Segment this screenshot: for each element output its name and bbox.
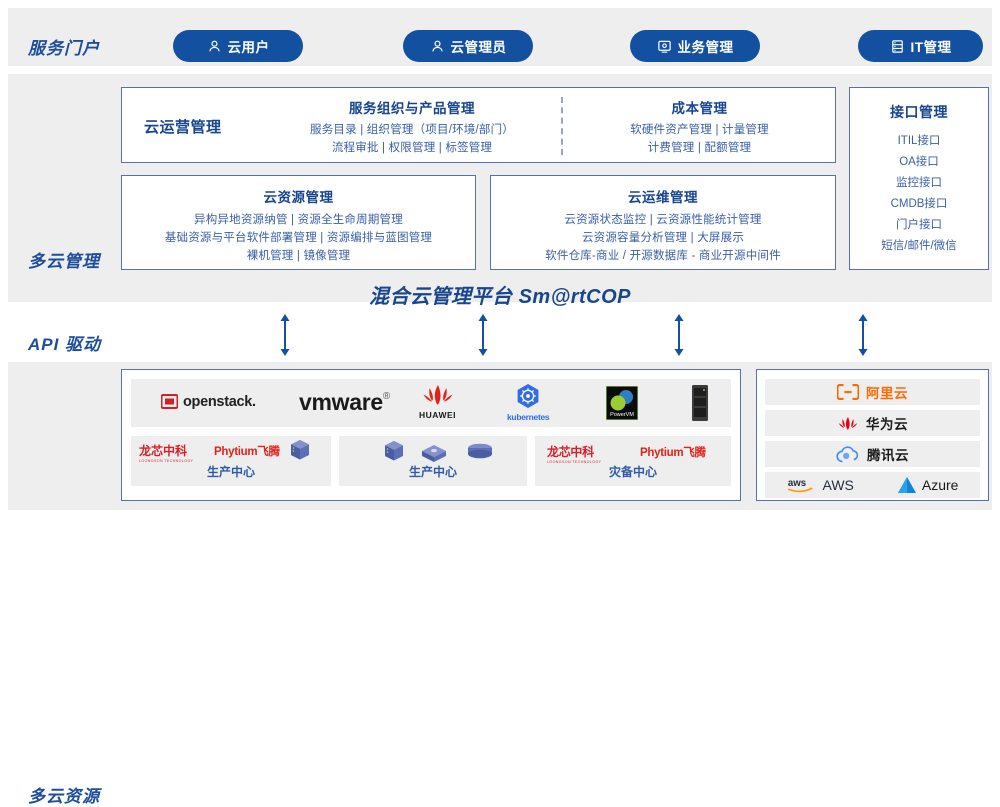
cloud-maintenance-line-3: 软件仓库-商业 / 开源数据库 - 商业开源中间件	[491, 247, 835, 265]
public-cloud-panel: 阿里云 华为云 腾	[756, 369, 989, 501]
azure-logo: Azure	[897, 476, 959, 494]
cloud-maintenance-line-2: 云资源容量分析管理 | 大屏展示	[491, 229, 835, 247]
azure-label: Azure	[922, 477, 959, 493]
powervm-icon: PowerVM	[606, 386, 638, 420]
datacenter-name-2: 生产中心	[339, 463, 527, 480]
interface-item-messaging: 短信/邮件/微信	[850, 236, 988, 257]
datacenter-name-3: 灾备中心	[535, 463, 731, 480]
interface-item-itil: ITIL接口	[850, 131, 988, 152]
portal-button-cloud-user[interactable]: 云用户	[173, 30, 303, 62]
interface-item-monitor: 监控接口	[850, 173, 988, 194]
api-arrow-4	[857, 314, 869, 356]
server-icon	[289, 439, 311, 461]
phytium-logo-2: Phytium飞腾	[640, 444, 706, 460]
cost-management-group: 成本管理 软硬件资产管理 | 计量管理 计费管理 | 配额管理	[572, 97, 827, 157]
service-product-line-1: 服务目录 | 组织管理（项目/环境/部门）	[267, 121, 557, 139]
aliyun-label: 阿里云	[866, 382, 908, 402]
platform-title: 混合云管理平台 Sm@rtCOP	[8, 280, 992, 309]
vmware-logo: vmware ®	[299, 389, 390, 416]
interface-item-portal: 门户接口	[850, 215, 988, 236]
user-icon	[207, 39, 222, 54]
aws-label: AWS	[823, 477, 854, 493]
portal-button-label: 云管理员	[451, 36, 507, 56]
aws-logo: aws AWS	[787, 476, 854, 494]
api-drive-band: API 驱动	[8, 310, 992, 360]
openstack-logo: openstack.	[161, 393, 256, 410]
cloud-maintenance-line-1: 云资源状态监控 | 云资源性能统计管理	[491, 211, 835, 229]
cloud-resource-line-1: 异构异地资源纳管 | 资源全生命周期管理	[122, 211, 475, 229]
loongson-logo-2: 龙芯中科 LOONGSON TECHNOLOGY	[547, 443, 601, 464]
huawei-flower-icon	[421, 383, 455, 407]
cloud-operation-side-title: 云运营管理	[144, 116, 222, 137]
public-cloud-row-huawei: 华为云	[765, 410, 980, 436]
server-rack-icon	[691, 385, 709, 421]
aws-icon: aws	[787, 476, 817, 494]
storage-icon	[467, 443, 493, 461]
interface-management-title: 接口管理	[850, 102, 988, 122]
private-cloud-panel: openstack. vmware ®	[121, 369, 741, 501]
service-product-group: 服务组织与产品管理 服务目录 | 组织管理（项目/环境/部门） 流程审批 | 权…	[267, 97, 557, 157]
server-list-icon	[890, 39, 905, 54]
switch-icon	[421, 444, 447, 464]
cloud-resource-line-3: 裸机管理 | 镜像管理	[122, 247, 475, 265]
cloud-resource-title: 云资源管理	[122, 186, 475, 206]
loongson-logo-text: 龙芯中科	[139, 442, 193, 459]
cost-management-title: 成本管理	[572, 97, 827, 117]
loongson-logo-text: 龙芯中科	[547, 443, 601, 460]
service-portal-label: 服务门户	[28, 34, 100, 59]
powervm-logo: PowerVM	[606, 386, 638, 420]
multicloud-resource-label: 多云资源	[28, 782, 100, 807]
cost-management-line-1: 软硬件资产管理 | 计量管理	[572, 121, 827, 139]
portal-button-it-mgmt[interactable]: IT管理	[858, 30, 983, 62]
public-cloud-row-aliyun: 阿里云	[765, 379, 980, 405]
public-cloud-row-tencent: 腾讯云	[765, 441, 980, 467]
datacenter-card-2: 生产中心	[339, 436, 527, 486]
tencent-cloud-label: 腾讯云	[867, 444, 909, 464]
server-icon	[383, 440, 405, 462]
api-arrow-2	[477, 314, 489, 356]
portal-button-label: 云用户	[228, 36, 270, 56]
svg-text:aws: aws	[787, 478, 805, 489]
service-portal-band: 服务门户 云用户 云管理员 业务管理 IT管理	[8, 8, 992, 66]
cloud-resource-line-2: 基础资源与平台软件部署管理 | 资源编排与蓝图管理	[122, 229, 475, 247]
loongson-logo-1: 龙芯中科 LOONGSON TECHNOLOGY	[139, 442, 193, 463]
multicloud-management-label: 多云管理	[28, 247, 100, 272]
huawei-cloud-label: 华为云	[866, 413, 908, 433]
api-drive-label: API 驱动	[28, 330, 101, 355]
interface-item-oa: OA接口	[850, 152, 988, 173]
cloud-resource-box: 云资源管理 异构异地资源纳管 | 资源全生命周期管理 基础资源与平台软件部署管理…	[121, 175, 476, 270]
multicloud-resource-band: 多云资源 openstack. vmware ®	[8, 362, 992, 510]
cloud-maintenance-title: 云运维管理	[491, 186, 835, 206]
vmware-trademark-icon: ®	[383, 391, 390, 402]
huawei-cloud-icon	[837, 415, 859, 432]
kubernetes-logo: kubernetes	[507, 383, 549, 422]
server-rack-logo	[691, 385, 709, 421]
datacenter-card-3: 龙芯中科 LOONGSON TECHNOLOGY Phytium飞腾 灾备中心	[535, 436, 731, 486]
portal-button-cloud-admin[interactable]: 云管理员	[403, 30, 533, 62]
datacenter-name-1: 生产中心	[131, 463, 331, 480]
azure-icon	[897, 476, 917, 494]
portal-button-business-mgmt[interactable]: 业务管理	[630, 30, 760, 62]
cloud-operation-box: 云运营管理 服务组织与产品管理 服务目录 | 组织管理（项目/环境/部门） 流程…	[121, 87, 836, 163]
cost-management-line-2: 计费管理 | 配额管理	[572, 139, 827, 157]
vmware-logo-text: vmware	[299, 389, 383, 416]
interface-management-box: 接口管理 ITIL接口 OA接口 监控接口 CMDB接口 门户接口 短信/邮件/…	[849, 87, 989, 270]
huawei-logo: HUAWEI	[419, 383, 456, 420]
ops-box-divider	[561, 97, 563, 155]
service-product-title: 服务组织与产品管理	[267, 97, 557, 117]
service-product-line-2: 流程审批 | 权限管理 | 标签管理	[267, 139, 557, 157]
cloud-maintenance-box: 云运维管理 云资源状态监控 | 云资源性能统计管理 云资源容量分析管理 | 大屏…	[490, 175, 836, 270]
api-arrow-3	[673, 314, 685, 356]
tencent-cloud-icon	[836, 446, 860, 463]
monitor-icon	[657, 39, 672, 54]
portal-button-label: 业务管理	[678, 36, 734, 56]
admin-user-icon	[430, 39, 445, 54]
portal-button-label: IT管理	[911, 36, 952, 56]
openstack-logo-text: openstack.	[183, 394, 256, 410]
kubernetes-helm-icon	[515, 383, 541, 409]
virtualization-vendor-strip: openstack. vmware ®	[131, 379, 731, 427]
phytium-logo-1: Phytium飞腾	[214, 443, 280, 459]
kubernetes-logo-text: kubernetes	[507, 412, 549, 422]
interface-item-cmdb: CMDB接口	[850, 194, 988, 215]
architecture-diagram: 服务门户 云用户 云管理员 业务管理 IT管理 多云	[0, 0, 1000, 518]
multicloud-management-band: 多云管理 云运营管理 服务组织与产品管理 服务目录 | 组织管理（项目/环境/部…	[8, 74, 992, 302]
datacenter-card-1: 龙芯中科 LOONGSON TECHNOLOGY Phytium飞腾 生产中心	[131, 436, 331, 486]
api-arrow-1	[279, 314, 291, 356]
public-cloud-row-aws-azure: aws AWS Azure	[765, 472, 980, 498]
aliyun-icon	[837, 384, 859, 400]
svg-text:PowerVM: PowerVM	[610, 412, 634, 418]
huawei-logo-text: HUAWEI	[419, 410, 456, 420]
